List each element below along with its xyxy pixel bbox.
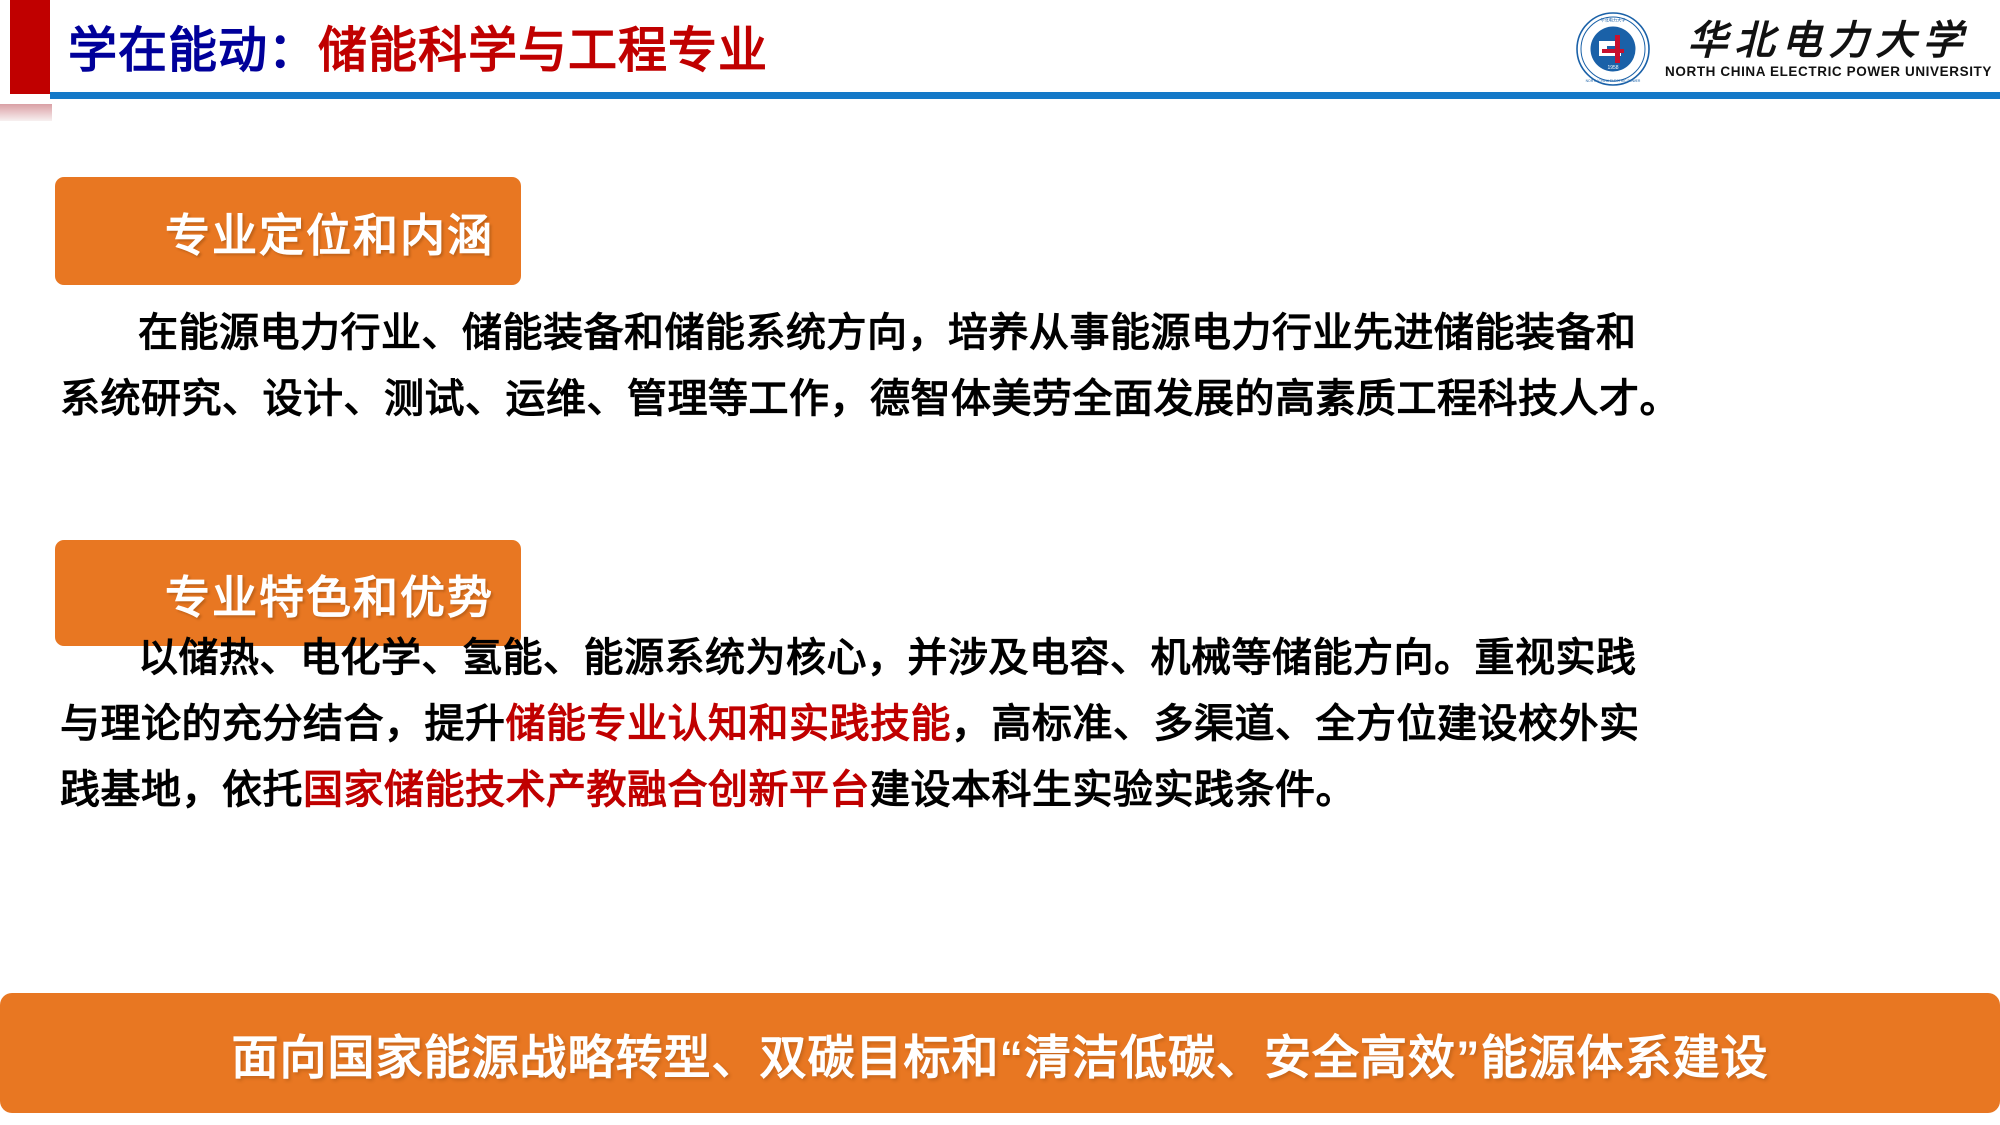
body-text-line: 以储热、电化学、氢能、能源系统为核心，并涉及电容、机械等储能方向。重视实践 <box>60 625 1950 691</box>
footer-banner: 面向国家能源战略转型、双碳目标和“清洁低碳、安全高效”能源体系建设 <box>0 993 2000 1113</box>
section-banner-label: 专业特色和优势 <box>165 561 494 626</box>
body-text-run: ，高标准、多渠道、全方位建设校外实 <box>951 702 1640 746</box>
svg-text:1958: 1958 <box>1607 65 1618 71</box>
body-text-line: 与理论的充分结合，提升储能专业认知和实践技能，高标准、多渠道、全方位建设校外实 <box>60 691 1950 757</box>
body-text-run: 系统研究、设计、测试、运维、管理等工作，德智体美劳全面发展的高素质工程科技人才。 <box>60 377 1680 421</box>
body-text-line: 践基地，依托国家储能技术产教融合创新平台建设本科生实验实践条件。 <box>60 757 1950 823</box>
header-accent-bar <box>10 0 50 94</box>
footer-slogan: 面向国家能源战略转型、双碳目标和“清洁低碳、安全高效”能源体系建设 <box>232 1019 1769 1088</box>
header-fade-accent <box>0 104 52 121</box>
logo-name-en: NORTH CHINA ELECTRIC POWER UNIVERSITY <box>1665 64 1992 79</box>
body-text-line: 在能源电力行业、储能装备和储能系统方向，培养从事能源电力行业先进储能装备和 <box>60 300 1950 366</box>
page-title-primary: 学在能动： <box>68 11 318 82</box>
ncepu-emblem-icon: 1958 华北电力大学 NORTH CHINA ELECTRIC POWER <box>1575 11 1651 87</box>
header-divider-rule <box>50 92 2000 99</box>
body-text-run: 践基地，依托 <box>60 768 303 812</box>
body-text-run: 与理论的充分结合，提升 <box>60 702 506 746</box>
slide-header: 学在能动： 储能科学与工程专业 1958 华北电力大学 NORTH CHINA … <box>0 0 2000 99</box>
body-text-run: 以储热、电化学、氢能、能源系统为核心，并涉及电容、机械等储能方向。重视实践 <box>60 625 1637 691</box>
body-text-highlight: 储能专业认知和实践技能 <box>506 702 952 746</box>
body-text-run: 在能源电力行业、储能装备和储能系统方向，培养从事能源电力行业先进储能装备和 <box>60 300 1637 366</box>
section-banner-label: 专业定位和内涵 <box>165 199 494 264</box>
body-text-highlight: 国家储能技术产教融合创新平台 <box>303 768 870 812</box>
logo-name-cn: 华北电力大学 <box>1688 20 1970 62</box>
body-text-run: 建设本科生实验实践条件。 <box>870 768 1356 812</box>
page-title-secondary: 储能科学与工程专业 <box>318 11 768 82</box>
section-body-positioning: 在能源电力行业、储能装备和储能系统方向，培养从事能源电力行业先进储能装备和系统研… <box>60 300 1950 432</box>
logo-wordmark: 华北电力大学 NORTH CHINA ELECTRIC POWER UNIVER… <box>1665 20 1992 79</box>
svg-text:NORTH CHINA ELECTRIC POWER: NORTH CHINA ELECTRIC POWER <box>1586 79 1641 83</box>
university-logo: 1958 华北电力大学 NORTH CHINA ELECTRIC POWER 华… <box>1575 8 1992 90</box>
body-text-line: 系统研究、设计、测试、运维、管理等工作，德智体美劳全面发展的高素质工程科技人才。 <box>60 366 1950 432</box>
svg-text:华北电力大学: 华北电力大学 <box>1600 17 1625 24</box>
section-body-features: 以储热、电化学、氢能、能源系统为核心，并涉及电容、机械等储能方向。重视实践与理论… <box>60 625 1950 823</box>
section-banner-positioning: 专业定位和内涵 <box>55 177 521 285</box>
page-title: 学在能动： 储能科学与工程专业 <box>68 10 768 82</box>
